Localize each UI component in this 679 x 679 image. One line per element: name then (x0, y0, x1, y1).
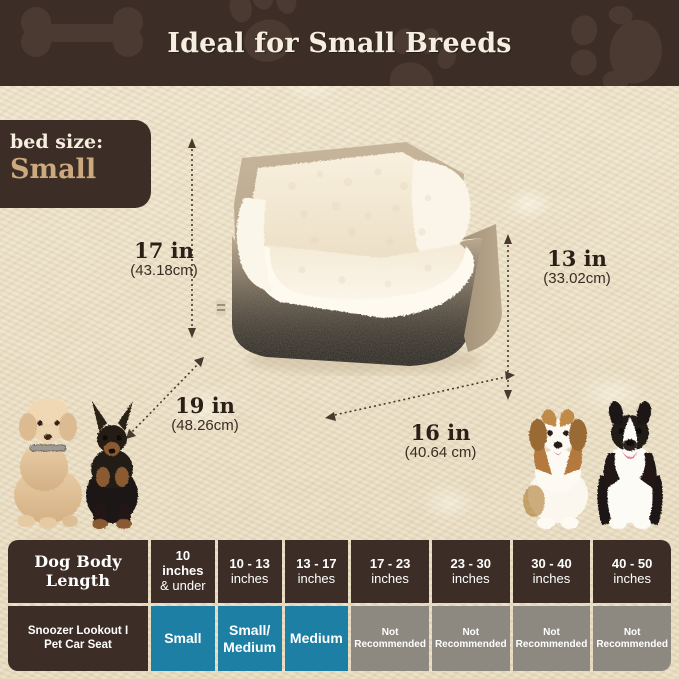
dimension-width-inches: 19 in (140, 395, 270, 417)
table-header-col-1: 10 inches & under (151, 540, 215, 603)
table-cell-fit-7: Not Recommended (593, 606, 671, 671)
dimension-length-metric: (40.64 cm) (368, 444, 513, 462)
dimension-depth: 13 in (33.02cm) (512, 248, 642, 288)
table-row-label-product: Snoozer Lookout I Pet Car Seat (8, 606, 148, 671)
border-collie-photo (597, 401, 662, 529)
dimension-length: 16 in (40.64 cm) (368, 422, 513, 462)
bed-size-label: bed size: (10, 132, 151, 153)
infographic-root: Ideal for Small Breeds bed size: Small (0, 0, 679, 679)
table-header-col-5: 23 - 30 inches (432, 540, 510, 603)
bed-size-value: Small (10, 154, 151, 186)
table-cell-fit-4: Not Recommended (351, 606, 429, 671)
header-banner: Ideal for Small Breeds (0, 0, 679, 86)
table-header-col-3: 13 - 17 inches (285, 540, 349, 603)
table-header-dog-body-length: Dog Body Length (8, 540, 148, 603)
table-cell-fit-6: Not Recommended (513, 606, 591, 671)
dimension-height-metric: (43.18cm) (104, 262, 224, 280)
table-cell-fit-5: Not Recommended (432, 606, 510, 671)
dimension-height: 17 in (43.18cm) (104, 240, 224, 280)
table-header-col-7: 40 - 50 inches (593, 540, 671, 603)
table-header-col-6: 30 - 40 inches (513, 540, 591, 603)
dimension-depth-metric: (33.02cm) (512, 270, 642, 288)
dimension-width-metric: (48.26cm) (140, 417, 270, 435)
brand-tag (216, 300, 226, 316)
page-title: Ideal for Small Breeds (0, 0, 679, 86)
dimension-width: 19 in (48.26cm) (140, 395, 270, 435)
dimension-height-inches: 17 in (104, 240, 224, 262)
table-cell-fit-3: Medium (285, 606, 349, 671)
dogs-left-group (4, 383, 156, 535)
dogs-right-group (508, 383, 676, 535)
miniature-pinscher-photo (86, 401, 138, 529)
table-header-col-2: 10 - 13 inches (218, 540, 282, 603)
table-header-col-4: 17 - 23 inches (351, 540, 429, 603)
bed-size-badge: bed size: Small (0, 120, 151, 208)
beagle-photo (523, 409, 588, 529)
dimension-depth-inches: 13 in (512, 248, 642, 270)
poodle-photo (14, 398, 82, 529)
size-chart-table: Dog Body Length 10 inches & under 10 - 1… (8, 540, 671, 671)
pet-car-seat-photo (196, 128, 526, 376)
dimension-length-inches: 16 in (368, 422, 513, 444)
table-cell-fit-1: Small (151, 606, 215, 671)
table-cell-fit-2: Small/ Medium (218, 606, 282, 671)
